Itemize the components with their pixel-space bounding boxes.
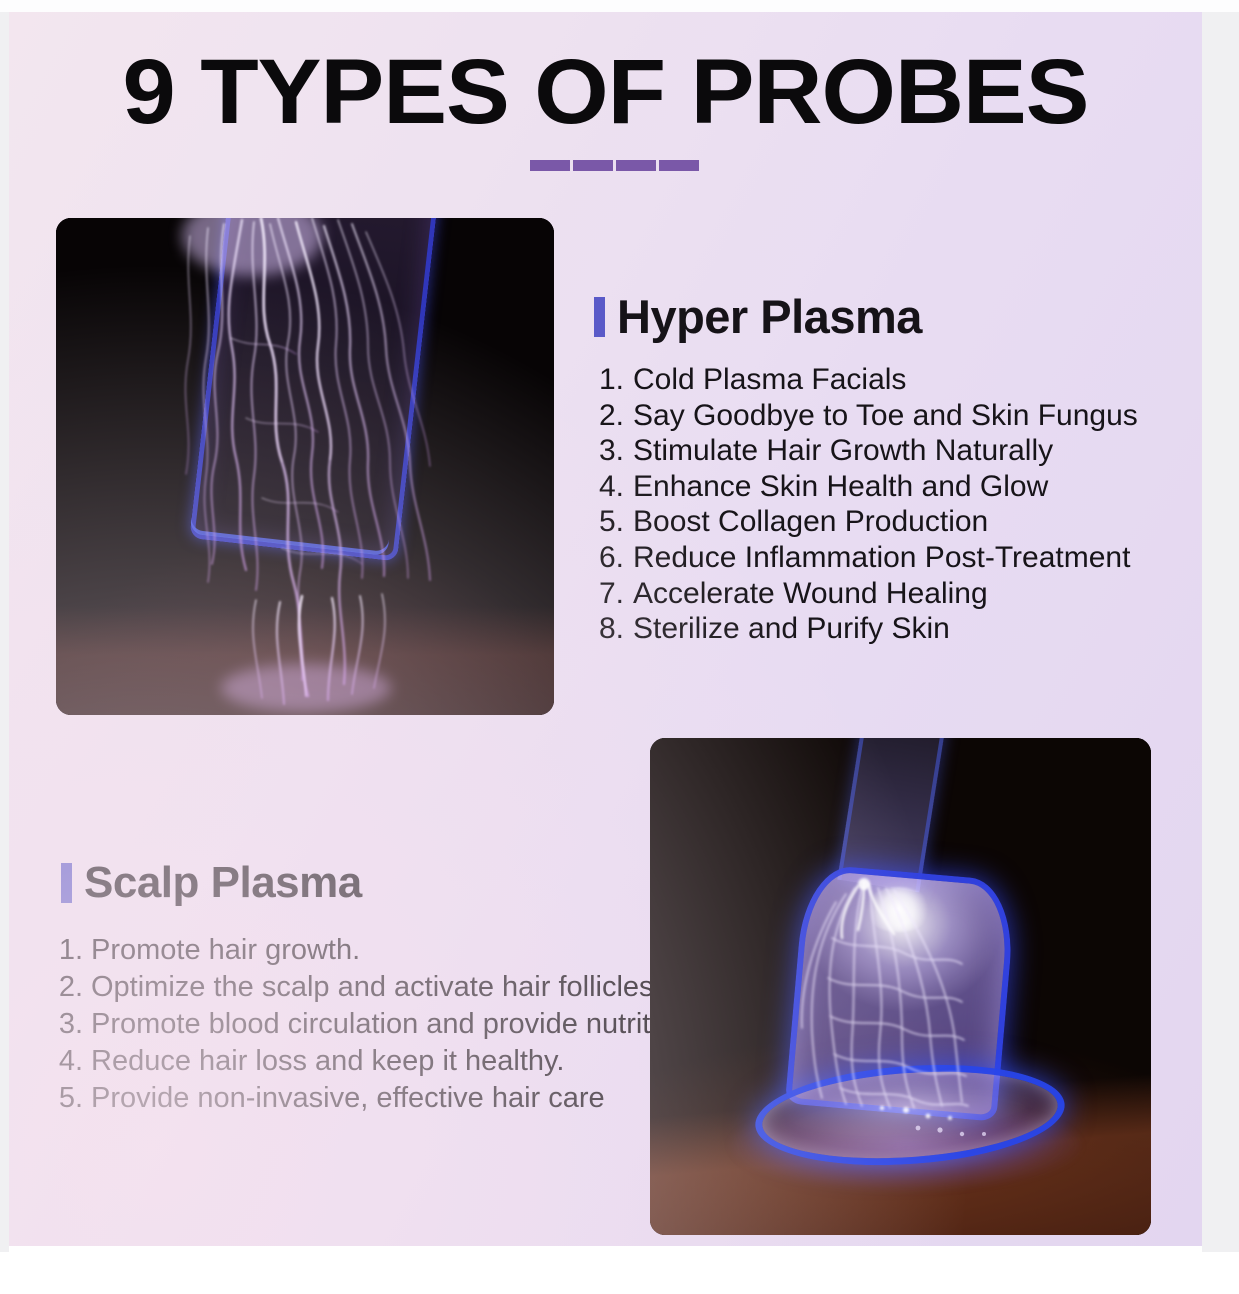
list-number: 4.	[55, 1043, 83, 1080]
list-item: 5.Provide non-invasive, effective hair c…	[55, 1080, 697, 1117]
list-item: 8.Sterilize and Purify Skin	[594, 611, 1138, 647]
list-text: Stimulate Hair Growth Naturally	[633, 433, 1053, 469]
list-text: Promote blood circulation and provide nu…	[91, 1006, 697, 1043]
infographic-poster: 9 TYPES OF PROBES	[9, 12, 1202, 1246]
title-dash	[530, 160, 570, 171]
list-text: Boost Collagen Production	[633, 504, 988, 540]
list-text: Reduce Inflammation Post-Treatment	[633, 540, 1130, 576]
title-underline-dashes	[530, 160, 699, 171]
list-text: Say Goodbye to Toe and Skin Fungus	[633, 398, 1138, 434]
title-dash	[616, 160, 656, 171]
list-text: Optimize the scalp and activate hair fol…	[91, 969, 662, 1006]
accent-bar-icon	[594, 297, 605, 337]
list-number: 6.	[594, 540, 624, 576]
title-dash	[659, 160, 699, 171]
list-item: 1.Cold Plasma Facials	[594, 362, 1138, 398]
list-item: 1.Promote hair growth.	[55, 932, 697, 969]
list-number: 3.	[55, 1006, 83, 1043]
list-item: 5.Boost Collagen Production	[594, 504, 1138, 540]
title-dash	[573, 160, 613, 171]
list-item: 6.Reduce Inflammation Post-Treatment	[594, 540, 1138, 576]
list-number: 1.	[594, 362, 624, 398]
list-text: Reduce hair loss and keep it healthy.	[91, 1043, 564, 1080]
page-right-gutter	[1202, 0, 1239, 1252]
list-text: Accelerate Wound Healing	[633, 576, 988, 612]
plasma-filaments	[650, 738, 1151, 1235]
list-item: 4.Reduce hair loss and keep it healthy.	[55, 1043, 697, 1080]
hyper-plasma-image	[56, 218, 554, 715]
hyper-plasma-list: 1.Cold Plasma Facials 2.Say Goodbye to T…	[594, 362, 1138, 647]
list-text: Sterilize and Purify Skin	[633, 611, 950, 647]
list-number: 8.	[594, 611, 624, 647]
list-number: 5.	[55, 1080, 83, 1117]
list-text: Promote hair growth.	[91, 932, 360, 969]
plasma-filaments	[56, 218, 554, 715]
list-item: 7.Accelerate Wound Healing	[594, 576, 1138, 612]
list-item: 3.Stimulate Hair Growth Naturally	[594, 433, 1138, 469]
scalp-plasma-image	[650, 738, 1151, 1235]
scalp-plasma-heading: Scalp Plasma	[61, 861, 362, 905]
list-number: 2.	[55, 969, 83, 1006]
list-number: 7.	[594, 576, 624, 612]
list-number: 5.	[594, 504, 624, 540]
list-item: 2.Optimize the scalp and activate hair f…	[55, 969, 697, 1006]
list-text: Cold Plasma Facials	[633, 362, 906, 398]
list-number: 2.	[594, 398, 624, 434]
hyper-plasma-heading: Hyper Plasma	[594, 293, 922, 340]
list-number: 1.	[55, 932, 83, 969]
list-number: 3.	[594, 433, 624, 469]
page-title: 9 TYPES OF PROBES	[9, 46, 1202, 138]
list-number: 4.	[594, 469, 624, 505]
list-text: Provide non-invasive, effective hair car…	[91, 1080, 605, 1117]
list-text: Enhance Skin Health and Glow	[633, 469, 1048, 505]
accent-bar-icon	[61, 863, 72, 903]
page-left-gutter	[0, 0, 9, 1252]
hyper-plasma-title: Hyper Plasma	[617, 293, 922, 340]
scalp-plasma-title: Scalp Plasma	[84, 861, 362, 905]
list-item: 4.Enhance Skin Health and Glow	[594, 469, 1138, 505]
list-item: 3.Promote blood circulation and provide …	[55, 1006, 697, 1043]
list-item: 2.Say Goodbye to Toe and Skin Fungus	[594, 398, 1138, 434]
scalp-plasma-list: 1.Promote hair growth. 2.Optimize the sc…	[55, 932, 697, 1117]
page-top-gutter	[0, 0, 1239, 12]
